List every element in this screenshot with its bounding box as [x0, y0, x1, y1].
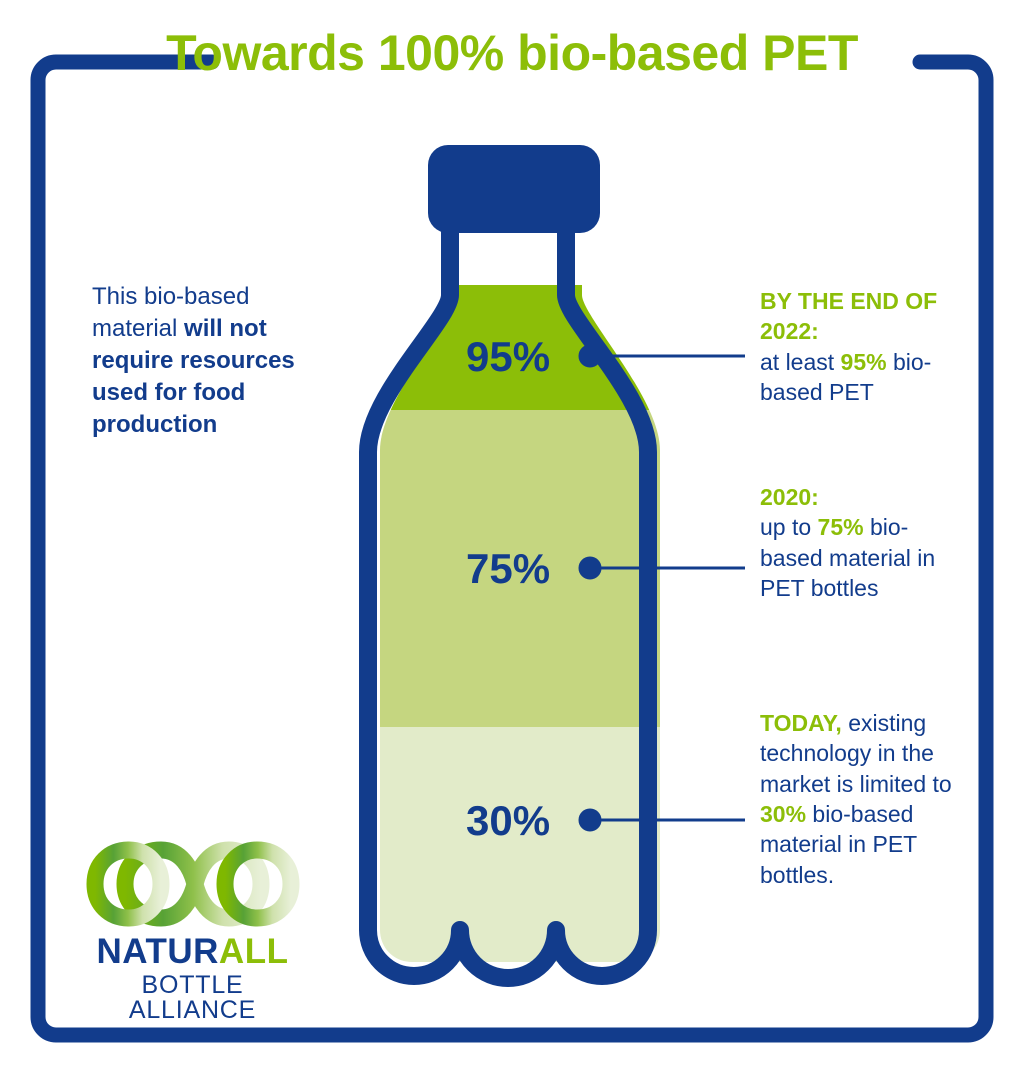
annotation-emph-2020: 75% [818, 514, 864, 540]
page-title: Towards 100% bio-based PET [0, 24, 1024, 82]
annotation-emph-2022: 95% [841, 349, 887, 375]
logo-word-natur: NATUR [97, 932, 219, 971]
annotation-heading-today: TODAY, [760, 710, 842, 736]
annotation-by-end-2022: BY THE END OF 2022: at least 95% bio-bas… [760, 286, 970, 407]
annotation-emph-today: 30% [760, 801, 806, 827]
naturall-bottle-alliance-logo: NATURALL BOTTLE ALLIANCE [80, 838, 305, 1023]
logo-wordmark: NATURALL [80, 934, 305, 969]
annotation-today: TODAY, existing technology in the market… [760, 708, 975, 890]
bottle-cap [428, 145, 600, 233]
annotation-body-2022-a: at least [760, 349, 841, 375]
bottle-label-75: 75% [466, 545, 550, 593]
logo-subtitle: BOTTLE ALLIANCE [80, 973, 305, 1023]
annotation-heading-2022: BY THE END OF 2022: [760, 288, 937, 344]
bottle-label-95: 95% [466, 333, 550, 381]
infographic-page: Towards 100% bio-based PET This bio-base… [0, 0, 1024, 1075]
bottle-label-30: 30% [466, 797, 550, 845]
annotation-2020: 2020: up to 75% bio-based material in PE… [760, 482, 970, 603]
annotation-body-2020-a: up to [760, 514, 818, 540]
annotation-heading-2020: 2020: [760, 484, 819, 510]
logo-word-all: ALL [219, 932, 289, 971]
infinity-loop-icon [85, 838, 300, 930]
left-note-text: This bio-based material will not require… [92, 281, 302, 441]
